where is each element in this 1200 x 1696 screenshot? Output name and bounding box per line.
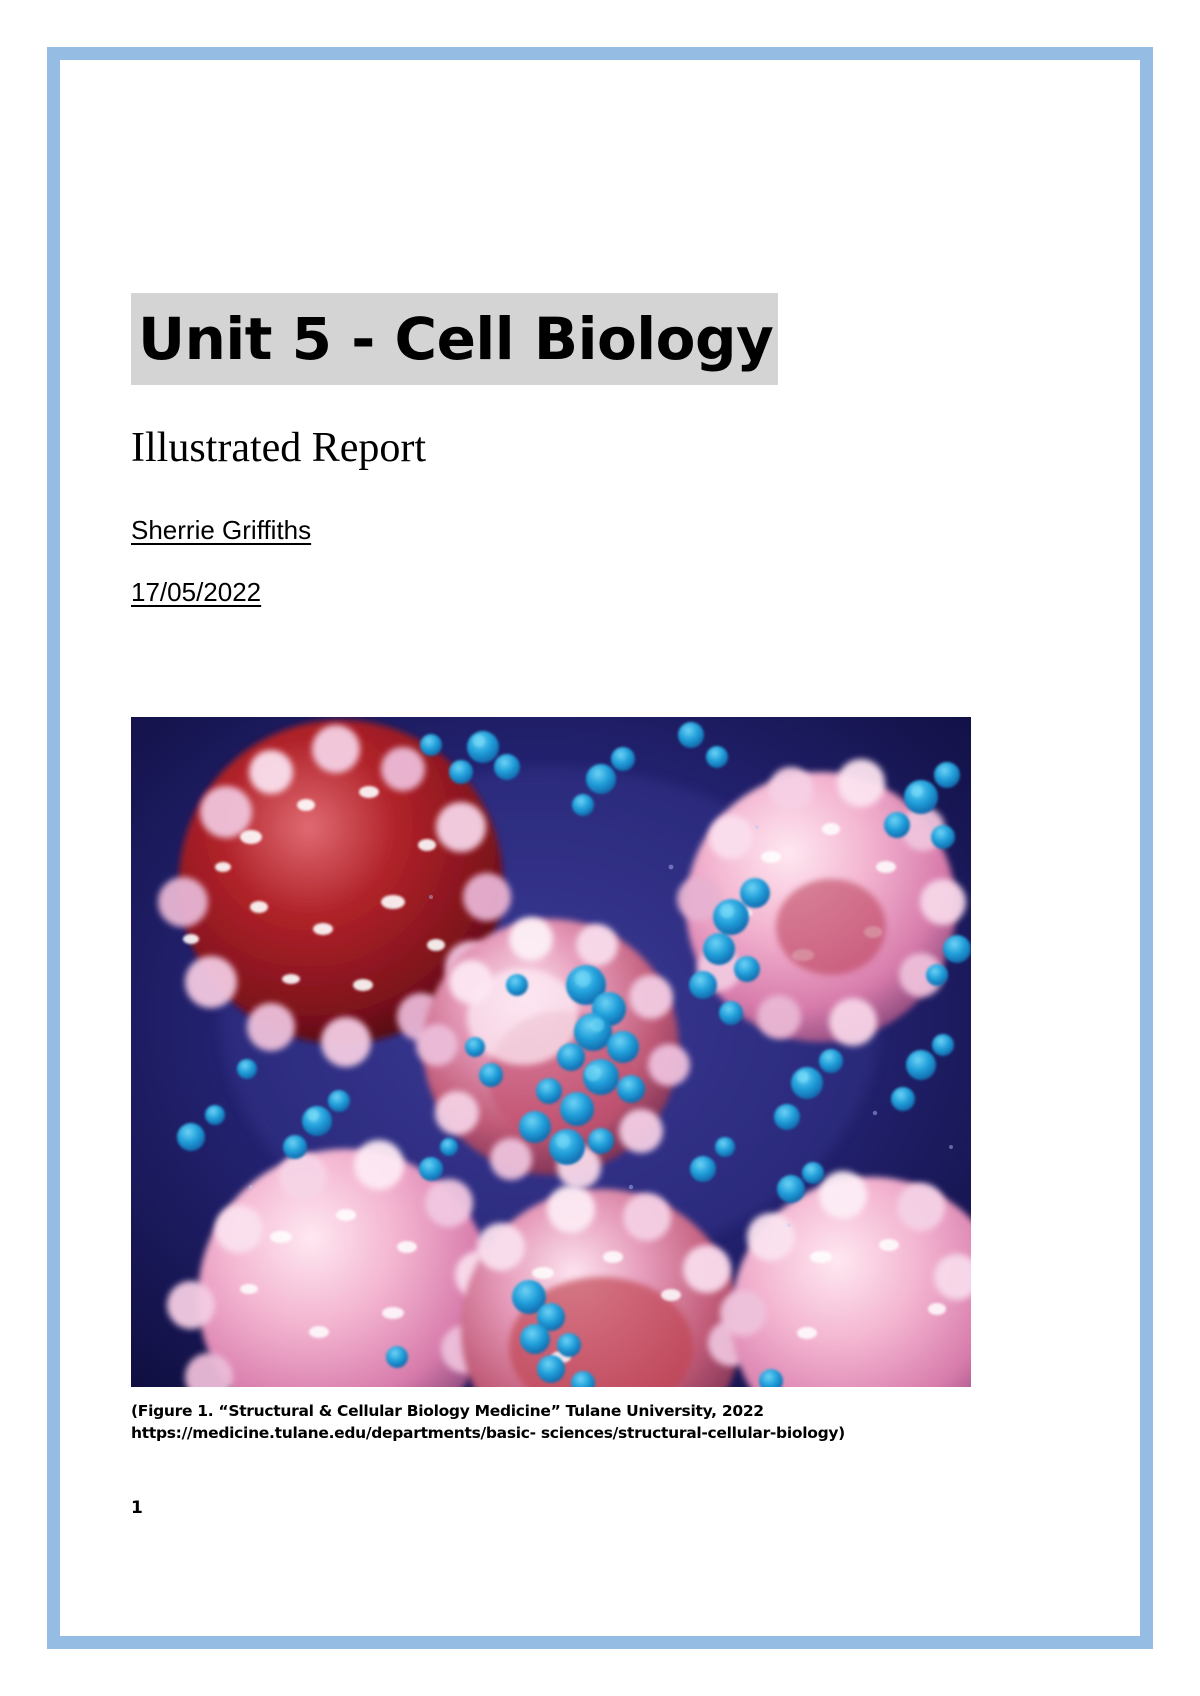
- figure-image-cells: [131, 717, 971, 1387]
- date-block: 17/05/2022: [131, 575, 1071, 609]
- document-content: Unit 5 - Cell Biology Illustrated Report…: [131, 47, 1071, 1518]
- document-page: Unit 5 - Cell Biology Illustrated Report…: [0, 0, 1200, 1696]
- figure-caption: (Figure 1. “Structural & Cellular Biolog…: [131, 1400, 1071, 1444]
- title-block: Unit 5 - Cell Biology: [131, 293, 1071, 385]
- figure-caption-line-2: https://medicine.tulane.edu/departments/…: [131, 1422, 1071, 1444]
- figure-1: (Figure 1. “Structural & Cellular Biolog…: [131, 717, 1071, 1444]
- document-subtitle: Illustrated Report: [131, 423, 1071, 473]
- author-name: Sherrie Griffiths: [131, 513, 311, 547]
- document-date: 17/05/2022: [131, 575, 261, 609]
- page-number: 1: [131, 1498, 1071, 1518]
- document-title: Unit 5 - Cell Biology: [131, 293, 778, 385]
- figure-caption-line-1: (Figure 1. “Structural & Cellular Biolog…: [131, 1400, 1071, 1422]
- byline-block: Sherrie Griffiths: [131, 513, 1071, 547]
